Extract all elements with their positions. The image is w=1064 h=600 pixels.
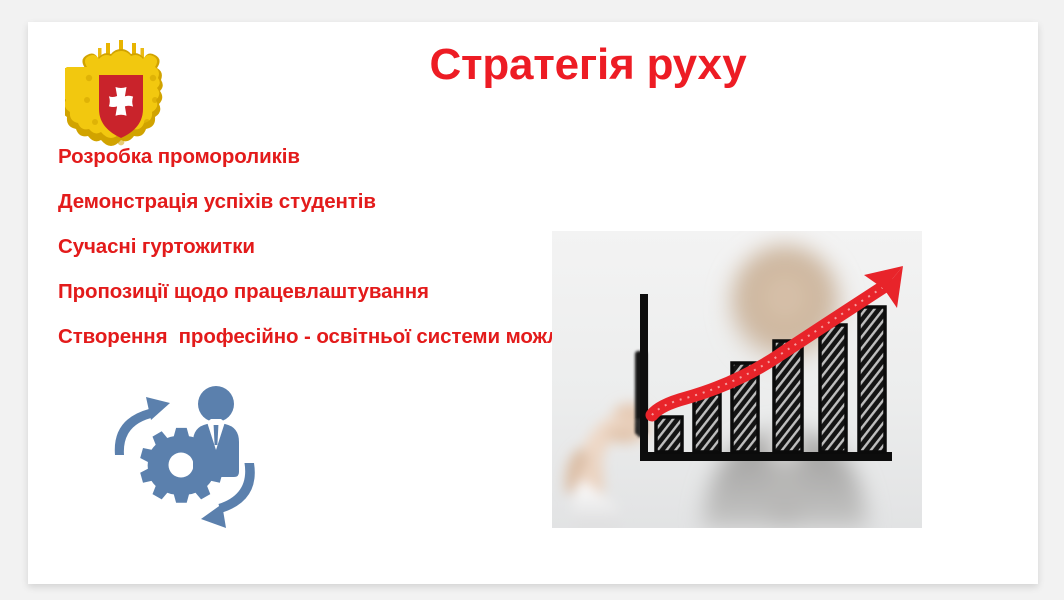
list-item: Розробка промороликів <box>58 144 758 189</box>
growth-chart-photo <box>552 231 922 528</box>
coat-of-arms-emblem <box>65 34 177 154</box>
gear-businessman-cycle-icon <box>98 377 278 537</box>
bar <box>859 307 885 452</box>
presentation-slide: Стратегія руху Розробка промороликів Дем… <box>28 22 1038 584</box>
bar <box>656 417 682 452</box>
page-title: Стратегія руху <box>308 40 868 89</box>
businessman-icon <box>193 386 239 477</box>
bar <box>820 325 846 452</box>
list-item: Демонстрація успіхів студентів <box>58 189 758 234</box>
bar <box>694 394 720 452</box>
